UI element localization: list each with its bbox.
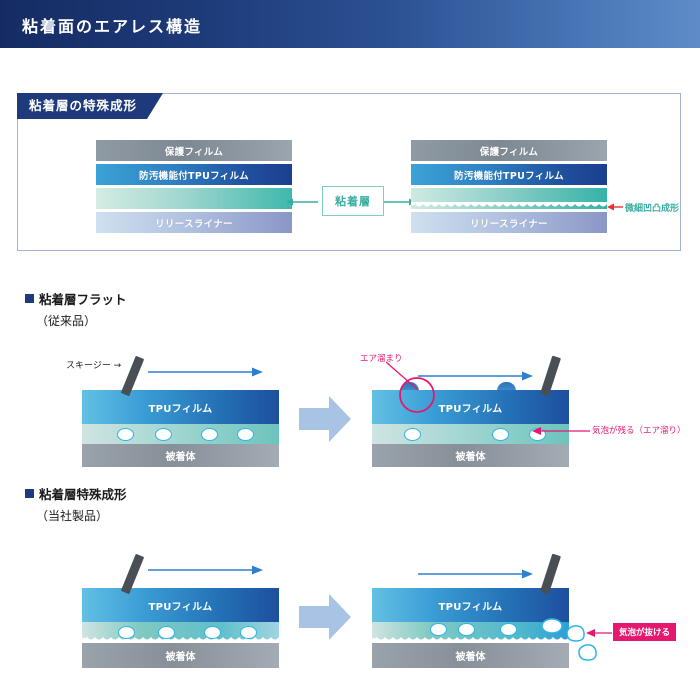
bubbles-remain-arrow-icon [532, 426, 590, 436]
air-bubble [237, 428, 254, 441]
layer-protective-film: 保護フィルム [96, 140, 292, 161]
layer-adhesive-textured [411, 188, 607, 209]
air-pocket-circle-highlight [397, 375, 437, 415]
layer-tpu-film: 防汚機能付TPUフィルム [96, 164, 292, 185]
substrate-layer: 被着体 [82, 643, 279, 668]
layer-stack-textured: 保護フィルム 防汚機能付TPUフィルム リリースライナー [411, 140, 607, 236]
section-subheading-textured: （当社製品） [36, 507, 108, 524]
section-heading-flat: 粘着層フラット [25, 289, 127, 308]
layer-adhesive-flat [96, 188, 292, 209]
section-heading-textured: 粘着層特殊成形 [25, 484, 127, 503]
micro-texture-arrow-icon [607, 202, 623, 212]
tpu-film-layer: TPUフィルム [372, 588, 569, 622]
xsection-flat-before: TPUフィルム 被着体 [82, 390, 279, 468]
layer-protective-film: 保護フィルム [411, 140, 607, 161]
air-bubble [500, 623, 517, 636]
bullet-square-icon [25, 294, 34, 303]
page-header: 粘着面のエアレス構造 [0, 0, 700, 48]
substrate-layer: 被着体 [372, 444, 569, 467]
xsection-textured-before: TPUフィルム 被着体 [82, 588, 279, 668]
page-title: 粘着面のエアレス構造 [22, 13, 202, 37]
direction-arrow [148, 366, 263, 378]
air-bubble [404, 428, 421, 441]
layer-stack-conventional: 保護フィルム 防汚機能付TPUフィルム リリースライナー [96, 140, 292, 236]
direction-arrow [418, 568, 533, 580]
air-bubble [204, 626, 221, 639]
layer-release-liner: リリースライナー [411, 212, 607, 233]
adhesive-layer-callout: 粘着層 [322, 186, 384, 216]
tpu-film-layer: TPUフィルム [82, 390, 279, 424]
section-subheading-flat: （従来品） [36, 312, 96, 329]
arrow-left-to-conventional [286, 196, 318, 208]
air-bubble [430, 623, 447, 636]
air-bubble [117, 428, 134, 441]
direction-arrow [148, 564, 263, 576]
layer-tpu-film: 防汚機能付TPUフィルム [411, 164, 607, 185]
panel-tab-label: 粘着層の特殊成形 [17, 93, 163, 119]
bubbles-remain-label: 気泡が残る（エア溜り） [592, 424, 686, 436]
transition-arrow-flat [299, 396, 351, 442]
micro-texture-wave [411, 202, 607, 210]
escaping-bubbles-group [540, 618, 610, 666]
air-bubble [492, 428, 509, 441]
micro-texture-label: 微細凹凸成形 [625, 201, 679, 214]
air-bubble [201, 428, 218, 441]
air-bubble [155, 428, 172, 441]
air-bubble [118, 626, 135, 639]
bubbles-escape-arrow-icon [586, 628, 612, 638]
layer-release-liner: リリースライナー [96, 212, 292, 233]
bullet-square-icon [25, 489, 34, 498]
substrate-layer: 被着体 [82, 444, 279, 467]
air-bubble [240, 626, 257, 639]
air-bubble [158, 626, 175, 639]
air-bubble [458, 623, 475, 636]
bubbles-escape-label: 気泡が抜ける [613, 623, 676, 641]
transition-arrow-textured [299, 594, 351, 640]
squeegee-label: スキージー → [66, 358, 121, 371]
tpu-film-layer: TPUフィルム [82, 588, 279, 622]
